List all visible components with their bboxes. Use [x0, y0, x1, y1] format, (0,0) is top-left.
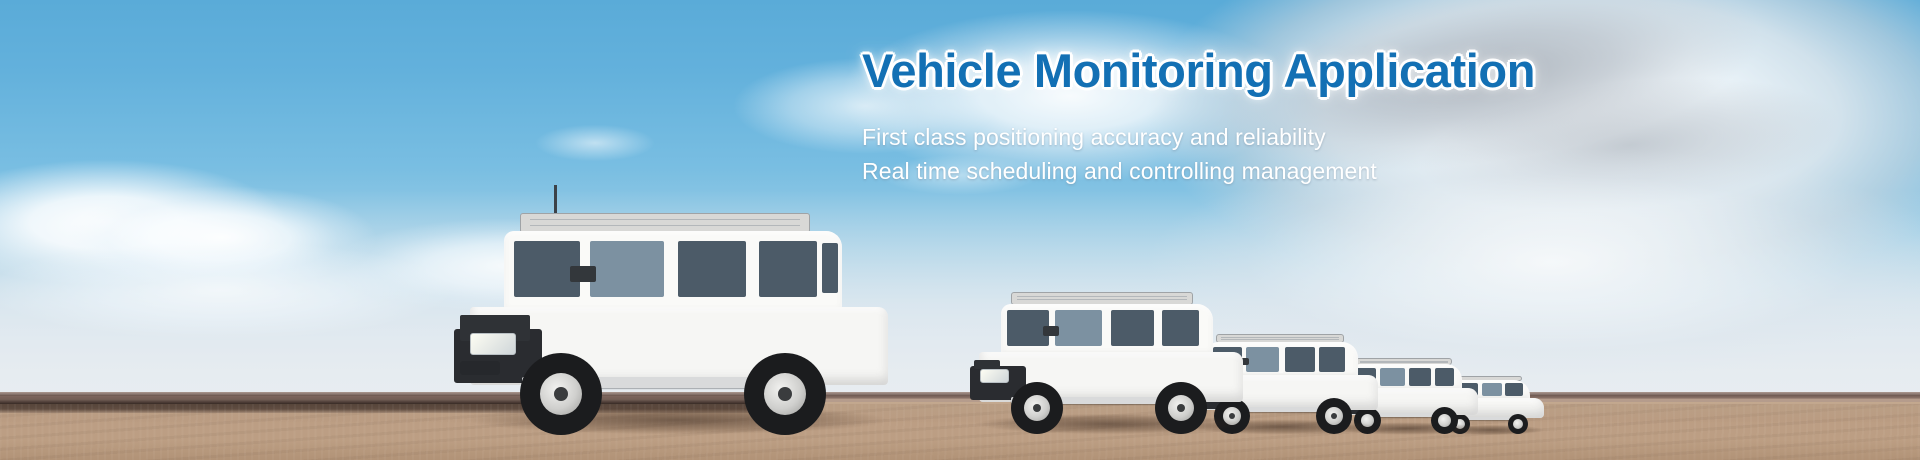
vehicle-shadow: [430, 403, 926, 437]
subtitle-list: First class positioning accuracy and rel…: [862, 120, 1602, 188]
side-mirror: [1043, 326, 1059, 336]
headlight: [470, 333, 516, 355]
b-pillar: [1102, 309, 1108, 348]
page-title: Vehicle Monitoring Application: [862, 46, 1602, 97]
vehicle-shadow: [953, 412, 1265, 436]
b-pillar: [664, 239, 673, 300]
vehicle-monitoring-hero-banner: Vehicle Monitoring Application First cla…: [0, 0, 1920, 460]
rear-quarter-window: [1505, 383, 1523, 396]
lower-bumper: [460, 361, 500, 375]
rear-hub: [778, 387, 792, 401]
subtitle-line-1: First class positioning accuracy and rel…: [862, 120, 1602, 154]
suv-2: [965, 290, 1255, 428]
rear-quarter-window: [1319, 347, 1345, 372]
c-pillar: [746, 239, 754, 300]
roof-rack-rail: [530, 219, 800, 226]
front-hub: [554, 387, 568, 401]
roof-rack-rail: [1017, 296, 1187, 300]
front-side-window: [590, 241, 664, 297]
side-mirror: [570, 266, 596, 282]
rear-quarter-window: [1435, 368, 1454, 386]
rear-quarter-window: [1162, 310, 1199, 346]
front-side-window: [1055, 310, 1102, 346]
rear-side-window: [1111, 310, 1154, 346]
suv-1-lead: [448, 211, 908, 426]
rear-side-window: [1285, 347, 1315, 372]
hero-text-block: Vehicle Monitoring Application First cla…: [862, 46, 1602, 188]
rear-quarter-window: [759, 241, 817, 297]
front-grille: [974, 360, 1000, 369]
rear-window: [1482, 383, 1502, 396]
b-pillar: [1279, 346, 1283, 373]
subtitle-line-2: Real time scheduling and controlling man…: [862, 154, 1602, 188]
rear-rim: [1438, 414, 1451, 427]
rear-rim: [1513, 419, 1523, 429]
rear-side-window: [1409, 368, 1431, 386]
rear-hub: [1331, 413, 1337, 419]
rear-side-window: [678, 241, 746, 297]
rear-tailgate-window: [822, 243, 838, 293]
headlight: [980, 369, 1009, 383]
front-hub: [1033, 404, 1041, 412]
c-pillar: [1154, 309, 1159, 348]
rear-hub: [1177, 404, 1185, 412]
